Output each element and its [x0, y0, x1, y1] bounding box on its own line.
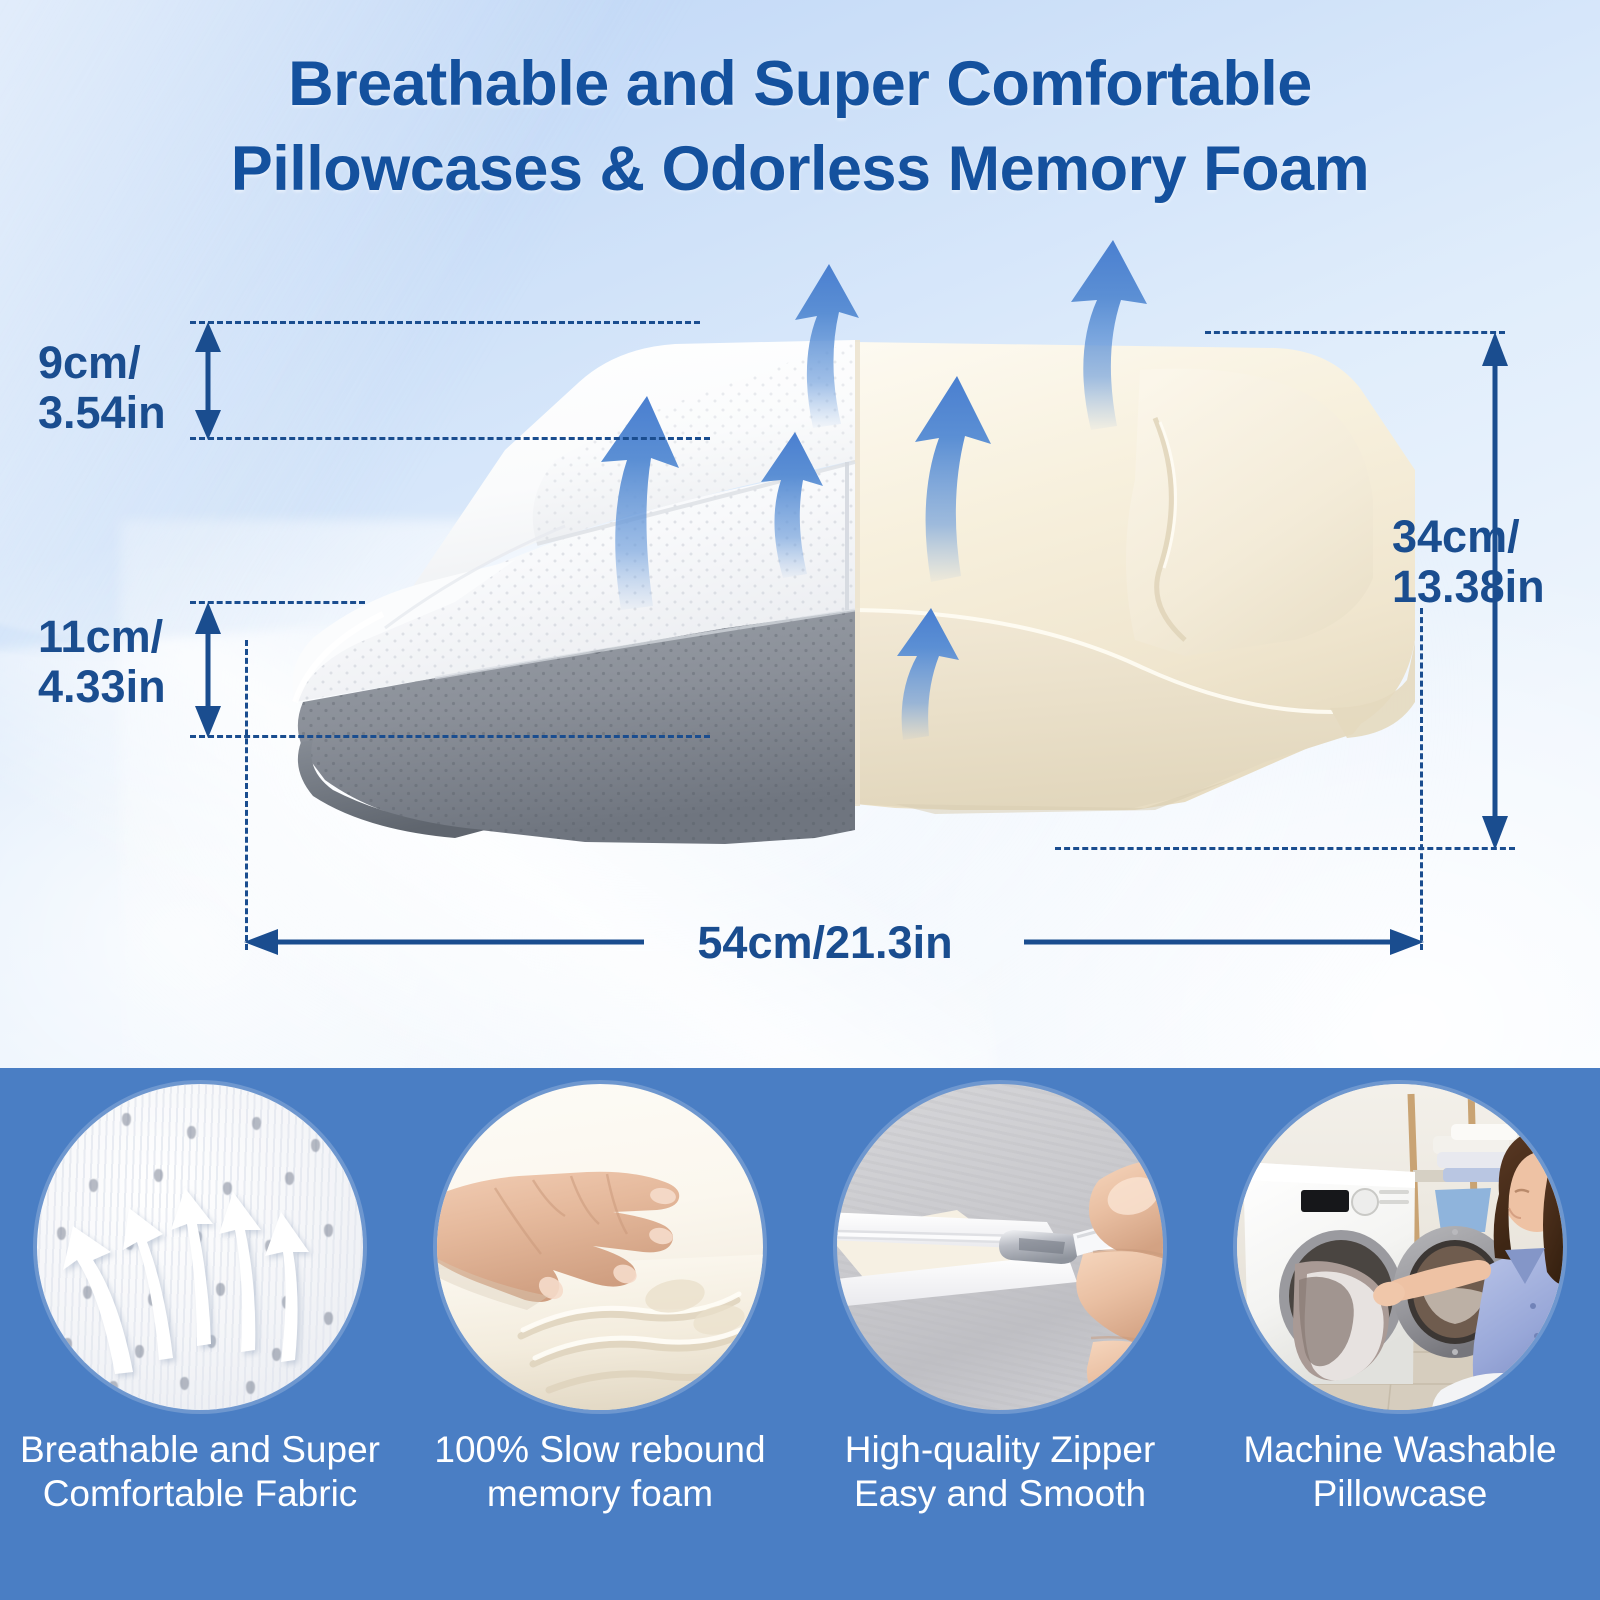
- feature-caption-quality-zipper: High-quality Zipper Easy and Smooth: [845, 1428, 1156, 1515]
- guide-line-right-edge: [1420, 608, 1423, 950]
- feature-caption-machine-washable: Machine Washable Pillowcase: [1243, 1428, 1556, 1515]
- feature-caption-breathable-fabric: Breathable and Super Comfortable Fabric: [20, 1428, 380, 1515]
- guide-line-upper-lobe: [190, 437, 710, 440]
- airflow-arrow-icon: [37, 1084, 363, 1410]
- feature-item-breathable-fabric: Breathable and Super Comfortable Fabric: [0, 1068, 400, 1600]
- product-dimensions-panel: 9cm/ 3.54in 11cm/ 4.33in 34cm/ 13.38in 5…: [0, 0, 1600, 1068]
- pillow-product-image: [255, 310, 1415, 855]
- page-title-line-1: Breathable and Super Comfortable: [0, 42, 1600, 127]
- guide-line-bottom-right: [1055, 847, 1515, 850]
- feature-image-memory-foam: [437, 1084, 763, 1410]
- dimension-label-overall-width: 54cm/21.3in: [660, 918, 990, 968]
- feature-image-breathable-fabric: [37, 1084, 363, 1410]
- pillowcase-half: [292, 340, 855, 844]
- feature-image-zipper: [837, 1084, 1163, 1410]
- feature-band: Breathable and Super Comfortable Fabric: [0, 1068, 1600, 1600]
- dimension-label-overall-depth: 34cm/ 13.38in: [1392, 512, 1597, 613]
- page-title-line-2: Pillowcases & Odorless Memory Foam: [0, 127, 1600, 212]
- feature-image-washing-machine: [1237, 1084, 1563, 1410]
- page-title: Breathable and Super Comfortable Pillowc…: [0, 42, 1600, 212]
- feature-caption-slow-rebound-foam: 100% Slow rebound memory foam: [434, 1428, 765, 1515]
- feature-list: Breathable and Super Comfortable Fabric: [0, 1068, 1600, 1600]
- guide-line-left-edge: [245, 640, 248, 950]
- guide-line-base: [190, 735, 710, 738]
- guide-line-top: [190, 321, 700, 324]
- washing-machine-icon: [1237, 1084, 1563, 1410]
- zipper-pull-icon: [837, 1084, 1163, 1410]
- feature-item-quality-zipper: High-quality Zipper Easy and Smooth: [800, 1068, 1200, 1600]
- dimension-label-upper-lobe-height: 9cm/ 3.54in: [38, 338, 228, 439]
- feature-item-slow-rebound-foam: 100% Slow rebound memory foam: [400, 1068, 800, 1600]
- guide-line-top-right: [1205, 331, 1505, 334]
- hand-on-foam-icon: [437, 1084, 763, 1410]
- feature-item-machine-washable: Machine Washable Pillowcase: [1200, 1068, 1600, 1600]
- dimension-label-lower-lobe-height: 11cm/ 4.33in: [38, 612, 243, 713]
